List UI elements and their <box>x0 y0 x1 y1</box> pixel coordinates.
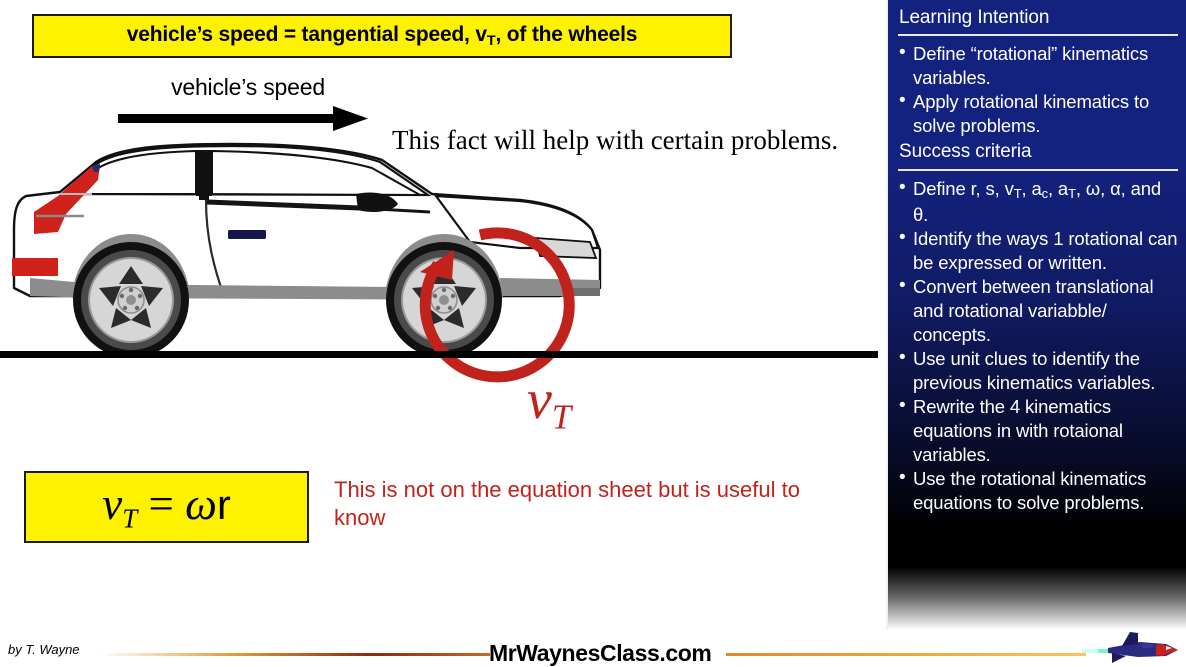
success-criteria-list: Define r, s, vT, ac, aT, ω, α, and θ. Id… <box>896 177 1180 516</box>
list-item: Use unit clues to identify the previous … <box>896 347 1180 395</box>
circular-rotation-arrow-icon <box>408 216 588 396</box>
title-banner-prefix: vehicle’s speed = tangential speed, v <box>127 23 487 46</box>
vt-subscript: T <box>552 397 571 436</box>
list-item: Apply rotational kinematics to solve pro… <box>896 90 1180 138</box>
success-criteria-divider <box>898 169 1178 171</box>
list-item: Rewrite the 4 kinematics equations in wi… <box>896 395 1180 467</box>
red-note: This is not on the equation sheet but is… <box>334 476 804 532</box>
footer-rule-right <box>726 653 1086 656</box>
vehicle-speed-label: vehicle’s speed <box>118 74 378 101</box>
title-banner-text: vehicle’s speed = tangential speed, vT, … <box>127 23 637 49</box>
slide-canvas: vehicle’s speed = tangential speed, vT, … <box>0 0 1186 667</box>
equation-operator: = <box>137 479 185 529</box>
footer-rule-left <box>100 653 490 656</box>
equation-radius: r <box>217 482 231 528</box>
title-banner-suffix: , of the wheels <box>496 23 638 46</box>
list-item-define-variables: Define r, s, vT, ac, aT, ω, α, and θ. <box>896 177 1180 227</box>
equation-lhs: v <box>102 479 122 529</box>
learning-intention-list: Define “rotational” kinematics variables… <box>896 42 1180 138</box>
ground-line <box>0 351 878 358</box>
learning-intention-heading: Learning Intention <box>896 6 1180 29</box>
list-item: Identify the ways 1 rotational can be ex… <box>896 227 1180 275</box>
objectives-sidebar: Learning Intention Define “rotational” k… <box>886 0 1186 630</box>
list-item: Convert between translational and rotati… <box>896 275 1180 347</box>
title-banner: vehicle’s speed = tangential speed, vT, … <box>32 14 732 58</box>
title-banner-subscript: T <box>487 33 496 49</box>
vt-symbol: v <box>527 369 552 431</box>
equation-text: vT = ωr <box>102 482 230 533</box>
list-item: Use the rotational kinematics equations … <box>896 467 1180 515</box>
equation-lhs-subscript: T <box>122 503 137 533</box>
list-item: Define “rotational” kinematics variables… <box>896 42 1180 90</box>
learning-intention-divider <box>898 34 1178 36</box>
vt-label: vT <box>527 372 571 435</box>
right-arrow-icon <box>118 104 373 134</box>
site-name: MrWaynesClass.com <box>489 640 711 667</box>
equation-omega: ω <box>185 479 217 529</box>
vehicle-speed-annotation: vehicle’s speed <box>118 74 378 101</box>
success-criteria-heading: Success criteria <box>896 140 1180 163</box>
rocket-logo-icon <box>1082 630 1186 667</box>
equation-box: vT = ωr <box>24 471 309 543</box>
byline: by T. Wayne <box>8 642 80 657</box>
